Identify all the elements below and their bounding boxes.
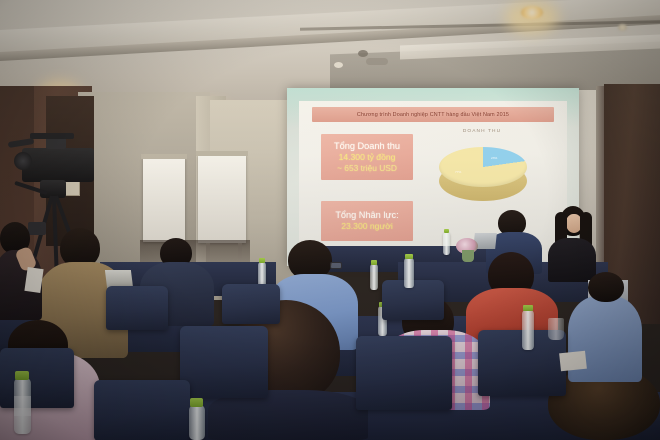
downlight-4 (618, 24, 627, 31)
pie-slice-label-0: 77% (455, 170, 461, 174)
bottle-front-center-cap (190, 398, 203, 407)
pie-chart-face (439, 147, 527, 187)
bottle-back-1-cap (444, 229, 449, 233)
bottle-front-left-cap (15, 371, 29, 380)
chair-5 (356, 336, 452, 410)
flower-vase (462, 250, 474, 262)
downlight-1 (521, 6, 543, 19)
bottle-mid-2[interactable] (370, 264, 378, 290)
bottle-front-right[interactable] (522, 310, 534, 350)
bottle-back-1[interactable] (443, 232, 450, 255)
camera-lens-icon (14, 152, 32, 170)
camera-monitor (28, 222, 46, 235)
notepad-front[interactable] (559, 351, 587, 372)
revenue-value-vnd: 14.300 tỷ đồng (339, 152, 396, 163)
bottle-front-right-cap (523, 305, 533, 311)
pie-chart: 23% 77% (435, 139, 531, 211)
bottle-front-left-label (14, 396, 31, 416)
flipchart-left-clamp (141, 154, 187, 159)
conference-room-photo: Chương trình Doanh nghiệp CNTT hàng đầu … (0, 0, 660, 440)
flipchart-right (198, 155, 246, 243)
chair-1 (106, 286, 168, 330)
slide-title: Chương trình Doanh nghiệp CNTT hàng đầu … (357, 112, 509, 118)
pie-slice-label-1: 23% (491, 156, 497, 160)
speaker-woman-body (548, 238, 596, 282)
flipchart-right-clamp (196, 151, 248, 156)
slide-box-revenue: Tổng Doanh thu 14.300 tỷ đồng ~ 653 triệ… (321, 134, 413, 180)
slide-title-bar: Chương trình Doanh nghiệp CNTT hàng đầu … (312, 107, 554, 122)
smoke-detector-icon (334, 62, 343, 68)
attendee-blue-right-head (588, 272, 624, 302)
drinking-glass[interactable] (548, 318, 564, 340)
attendee-blue-shirt-glasses-icon (330, 262, 342, 269)
bottle-front-center[interactable] (189, 405, 205, 440)
flipchart-left (143, 158, 185, 242)
revenue-value-usd: ~ 653 triệu USD (337, 163, 397, 173)
revenue-label: Tổng Doanh thu (334, 141, 400, 152)
chair-8 (94, 380, 190, 440)
chair-6 (0, 348, 74, 408)
camera-top-handle (30, 133, 74, 139)
pie-chart-title: DOANH THU (427, 129, 537, 134)
chair-4 (180, 326, 268, 398)
bottle-front-right-2-cap (405, 254, 413, 259)
bottle-front-right-2[interactable] (404, 258, 414, 288)
headcount-label: Tổng Nhân lực: (335, 210, 398, 221)
bottle-mid-1-cap (259, 258, 265, 263)
slide-box-headcount: Tổng Nhân lực: 23.300 người (321, 201, 413, 241)
ceiling-speaker-icon (358, 50, 368, 57)
paper-left[interactable] (24, 267, 43, 293)
chair-2 (222, 284, 280, 324)
video-camera (22, 148, 94, 182)
headcount-value: 23.300 người (341, 221, 393, 232)
ceiling-vent (366, 58, 388, 65)
bottle-mid-2-cap (371, 260, 377, 265)
